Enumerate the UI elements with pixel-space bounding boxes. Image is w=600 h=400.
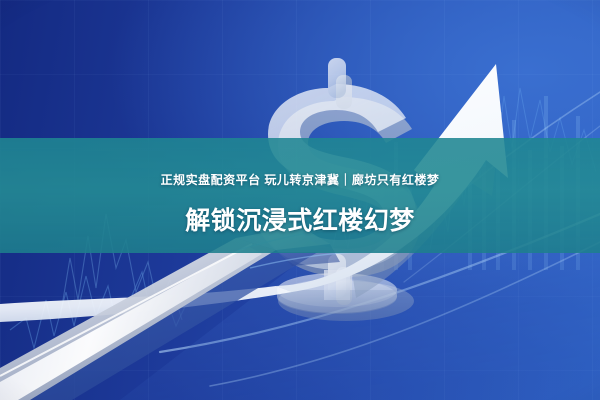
banner-image: 正规实盘配资平台 玩儿转京津冀｜廊坊只有红楼梦 解锁沉浸式红楼幻梦 — [0, 0, 600, 400]
floor-plane — [120, 236, 600, 400]
headline-line-2: 解锁沉浸式红楼幻梦 — [0, 206, 600, 236]
headline-line-1: 正规实盘配资平台 玩儿转京津冀｜廊坊只有红楼梦 — [0, 165, 600, 195]
